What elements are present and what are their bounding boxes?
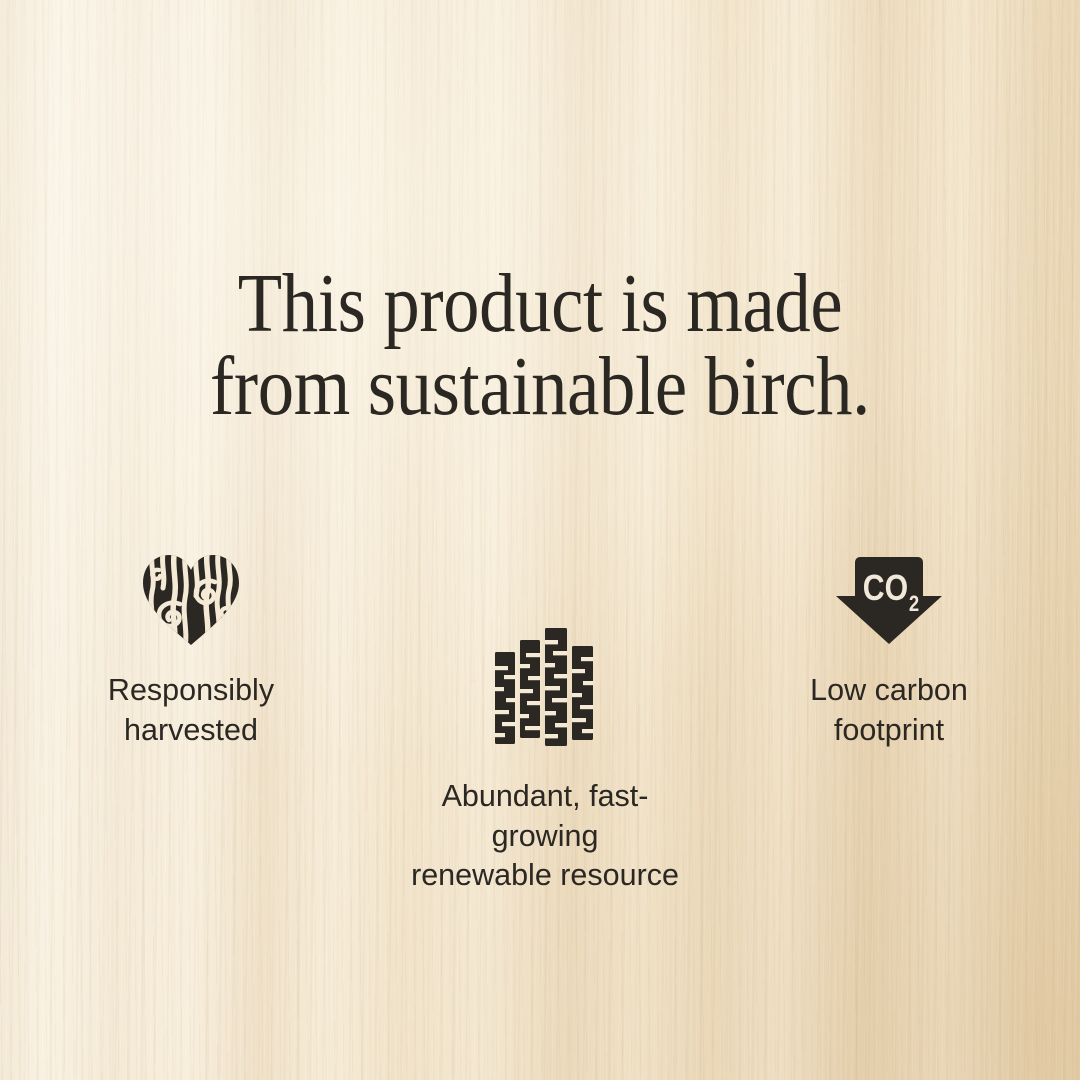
feature-item-renewable-resource: Abundant, fast-growing renewable resourc… [400, 626, 690, 896]
co2-label: CO [863, 569, 908, 609]
content-layer: This product is made from sustainable bi… [0, 0, 1080, 1080]
feature-caption: Responsibly harvested [108, 671, 274, 750]
feature-item-responsibly-harvested: Responsibly harvested [62, 552, 320, 750]
co2-down-arrow-icon: CO 2 [830, 552, 948, 653]
feature-item-low-carbon-footprint: CO 2 Low carbon footprint [760, 552, 1018, 750]
feature-list: Responsibly harvested [0, 530, 1080, 860]
birch-trunks-icon [493, 626, 597, 753]
feature-caption: Low carbon footprint [810, 671, 968, 750]
sustainable-birch-infographic: This product is made from sustainable bi… [0, 0, 1080, 1080]
co2-subscript: 2 [909, 593, 919, 617]
page-headline: This product is made from sustainable bi… [73, 262, 1007, 428]
wood-grain-heart-icon [139, 552, 243, 653]
feature-caption: Abundant, fast-growing renewable resourc… [400, 777, 690, 896]
